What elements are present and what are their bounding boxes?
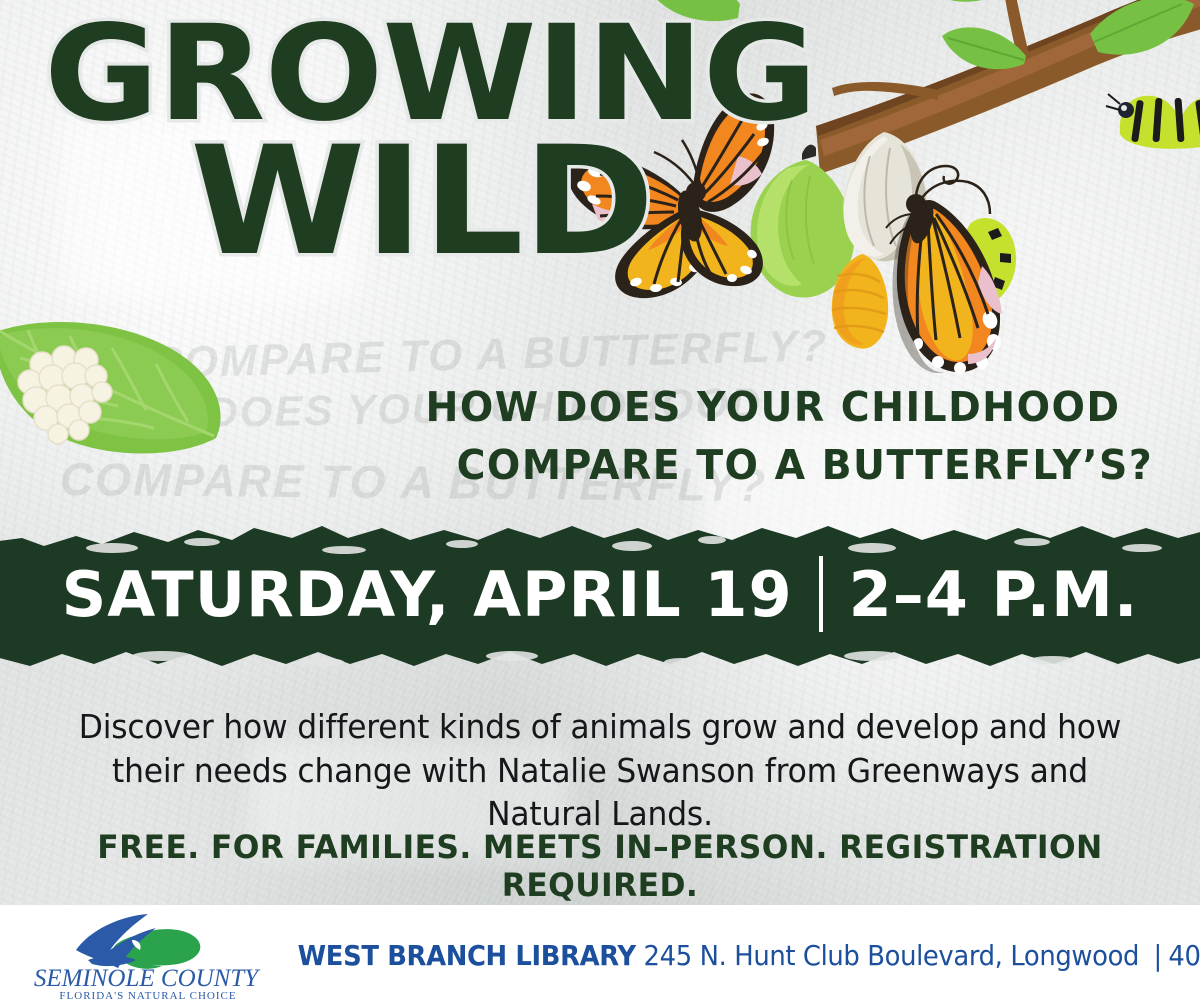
monarch-butterfly-illustration: [818, 126, 1048, 401]
flyer-title: GROWING WILD: [0, 18, 640, 267]
subtitle-line-1: HOW DOES YOUR CHILDHOOD: [47, 378, 1180, 436]
title-line-wild: WILD: [190, 138, 667, 267]
flyer-subtitle: HOW DOES YOUR CHILDHOOD COMPARE TO A BUT…: [0, 378, 1180, 494]
chrysalis-shell: [843, 132, 927, 262]
subtitle-line-2: COMPARE TO A BUTTERFLY’S?: [47, 436, 1180, 494]
library-name: WEST BRANCH LIBRARY: [298, 940, 636, 972]
logo-tagline: FLORIDA'S NATURAL CHOICE: [59, 990, 236, 1002]
seminole-county-logo: SEMINOLE COUNTY FLORIDA'S NATURAL CHOICE: [28, 910, 264, 1002]
library-phone[interactable]: 407-665-1670: [1168, 940, 1200, 972]
banner-text-row: SATURDAY, APRIL 19 2–4 P.M.: [0, 516, 1200, 676]
logo-wordmark: SEMINOLE COUNTY: [34, 965, 261, 992]
event-date: SATURDAY, APRIL 19: [62, 558, 793, 631]
banner-separator: [819, 556, 823, 632]
event-time: 2–4 P.M.: [849, 558, 1139, 631]
footer-bar: SEMINOLE COUNTY FLORIDA'S NATURAL CHOICE…: [0, 905, 1200, 1006]
caterpillar-bottom: [894, 218, 1016, 313]
chrysalis: [751, 145, 855, 298]
library-address: 245 N. Hunt Club Boulevard, Longwood: [644, 940, 1147, 972]
footer-separator: |: [1147, 940, 1169, 972]
event-tagline: FREE. FOR FAMILIES. MEETS IN–PERSON. REG…: [51, 828, 1149, 904]
library-contact-line: WEST BRANCH LIBRARY 245 N. Hunt Club Bou…: [298, 940, 1200, 972]
event-date-banner: SATURDAY, APRIL 19 2–4 P.M.: [0, 516, 1200, 676]
flyer-canvas: COMPARE TO A BUTTERFLY? HOW DOES YOUR CH…: [0, 0, 1200, 1006]
event-description: Discover how different kinds of animals …: [62, 706, 1139, 837]
caterpillar-top: [1106, 94, 1200, 149]
